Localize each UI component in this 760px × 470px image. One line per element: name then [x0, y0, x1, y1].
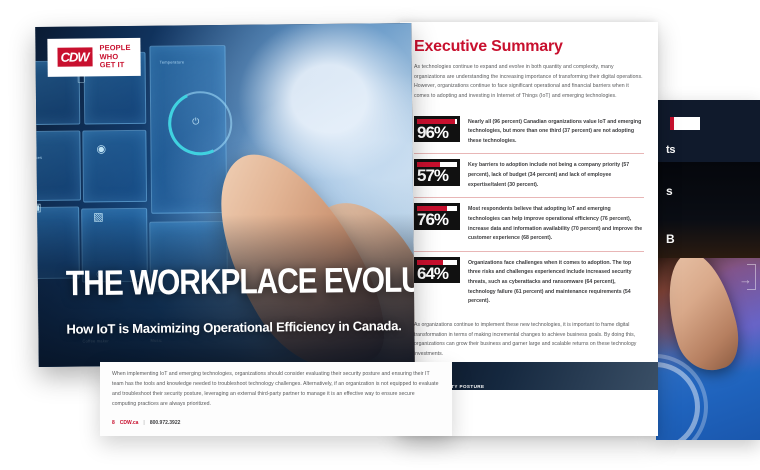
right-page-subtext-2: B — [666, 232, 675, 246]
outro-paragraph: As organizations continue to implement t… — [414, 321, 644, 360]
panel-label: Temperature — [160, 59, 185, 64]
cdw-tagline-line-3: GET IT — [100, 61, 131, 70]
hologram-tile — [82, 130, 147, 203]
document-bottom-sheet[interactable]: When implementing IoT and emerging techn… — [100, 362, 452, 436]
footer-phone[interactable]: 800.972.3922 — [150, 420, 181, 426]
stat-percent: 64% — [417, 266, 457, 283]
stat-percent: 96% — [417, 125, 457, 142]
intro-paragraph: As technologies continue to expand and e… — [414, 63, 644, 102]
right-page-photo: → — [656, 258, 760, 440]
stat-row: 57% Key barriers to adoption include not… — [414, 153, 644, 197]
right-page-headline: ts — [666, 144, 675, 156]
document-page-cover[interactable]: □ ◉ ▧ ☾ ▣ Temperature Devices Coffee mak… — [35, 23, 415, 367]
settings-icon: ◉ — [96, 144, 106, 155]
cdw-logo-mark: CDW — [57, 48, 92, 67]
tile-label: Devices — [35, 155, 42, 160]
stat-row: 64% Organizations face challenges when i… — [414, 251, 644, 314]
cover-title: THE WORKPLACE EVOLUTION. — [66, 260, 415, 305]
stat-description: Nearly all (96 percent) Canadian organiz… — [468, 116, 644, 147]
appliance-icon: ▣ — [35, 203, 41, 214]
page-title: Executive Summary — [414, 38, 644, 56]
stat-progress-bar — [417, 119, 457, 124]
page-footer: 8 CDW.ca | 800.972.3922 — [112, 420, 440, 426]
stat-badge: 76% — [414, 203, 460, 230]
document-page-right[interactable]: ts s B → — [656, 100, 760, 440]
stat-description: Most respondents believe that adopting I… — [468, 203, 644, 244]
right-page-badge — [670, 117, 700, 130]
stat-progress-bar — [417, 260, 457, 265]
footer-divider: | — [143, 420, 144, 426]
stat-badge: 64% — [414, 257, 460, 284]
stat-row: 76% Most respondents believe that adopti… — [414, 197, 644, 251]
stat-row: 96% Nearly all (96 percent) Canadian org… — [414, 111, 644, 154]
stat-list: 96% Nearly all (96 percent) Canadian org… — [414, 111, 644, 314]
right-page-subtext-1: s — [666, 184, 673, 198]
cdw-logo[interactable]: CDW PEOPLE WHO GET IT — [47, 38, 140, 77]
stat-badge: 57% — [414, 159, 460, 186]
stat-progress-bar — [417, 162, 457, 167]
power-icon: ⏻ — [192, 117, 199, 126]
screenshot-stage: ts s B → Executive Summary As technologi… — [0, 0, 760, 470]
hologram-tile — [35, 131, 81, 202]
stat-description: Key barriers to adoption include not bei… — [468, 159, 644, 190]
stat-progress-bar — [417, 206, 457, 211]
footer-page-number: 8 — [112, 420, 115, 426]
stat-badge: 96% — [414, 116, 460, 143]
arrow-right-icon: → — [739, 272, 752, 287]
footer-website[interactable]: CDW.ca — [120, 420, 139, 426]
stat-percent: 57% — [417, 168, 457, 185]
cdw-logo-tagline: PEOPLE WHO GET IT — [99, 44, 130, 70]
bottom-paragraph: When implementing IoT and emerging techn… — [112, 370, 440, 410]
stat-description: Organizations face challenges when it co… — [468, 257, 644, 307]
stat-percent: 76% — [417, 212, 457, 229]
